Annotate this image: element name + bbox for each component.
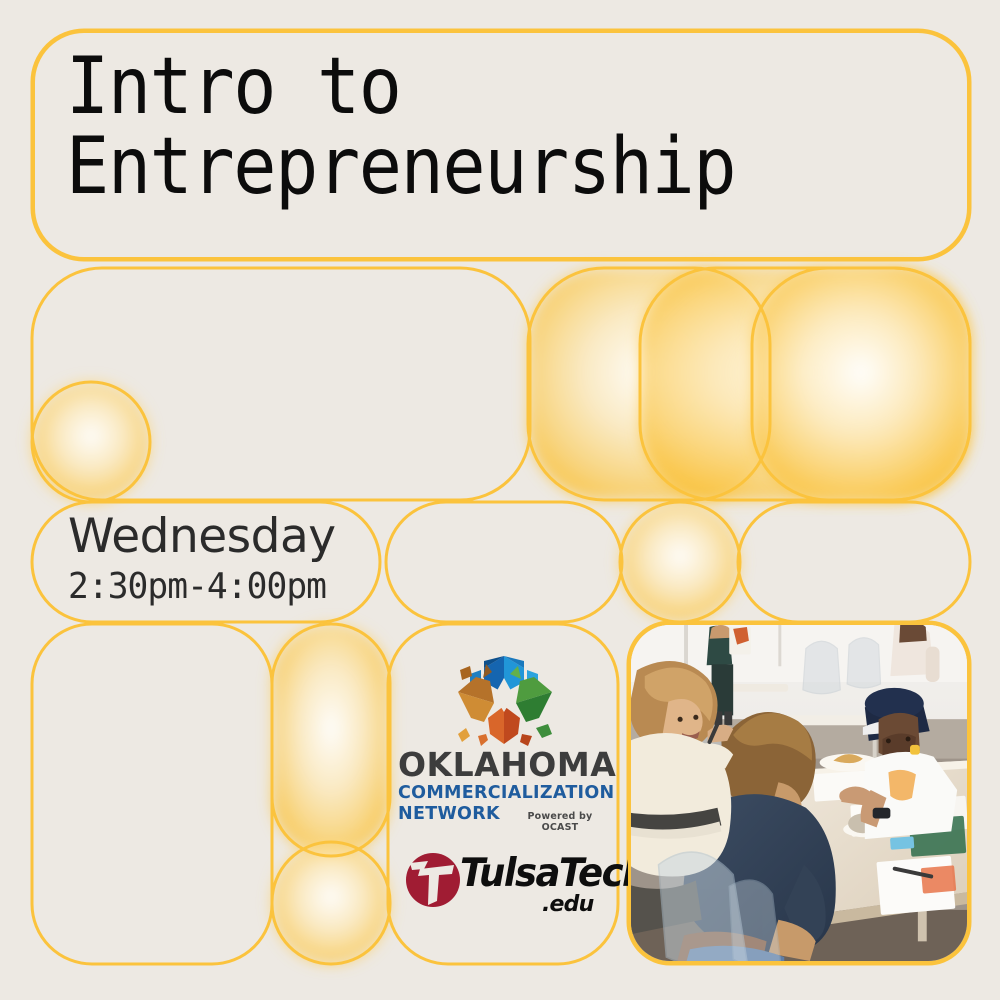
ocn-line3-row: NETWORK Powered by OCAST bbox=[398, 804, 610, 833]
page-title: Intro to Entrepreneurship bbox=[66, 48, 876, 207]
tulsatech-domain: .edu bbox=[542, 892, 594, 917]
event-photo bbox=[628, 622, 970, 964]
schedule-block: Wednesday 2:30pm-4:00pm bbox=[68, 512, 398, 609]
glow-bottom-pill-top bbox=[272, 624, 390, 856]
schedule-day: Wednesday bbox=[68, 512, 398, 562]
stroke-row3-b bbox=[386, 502, 622, 622]
ocn-wordmark: OKLAHOMA COMMERCIALIZATION NETWORK Power… bbox=[398, 748, 610, 833]
tulsatech-logo: TulsaTech .edu bbox=[402, 845, 610, 927]
event-photo-illustration bbox=[631, 625, 967, 961]
glow-mid-right-c bbox=[752, 268, 970, 500]
ocn-tagline: Powered by OCAST bbox=[510, 811, 610, 833]
schedule-time: 2:30pm-4:00pm bbox=[68, 564, 385, 609]
stroke-bottom-left-big bbox=[32, 624, 272, 964]
stroke-row3-d bbox=[738, 502, 970, 622]
ocn-line2: COMMERCIALIZATION bbox=[398, 784, 610, 803]
poster-canvas: Intro to Entrepreneurship Wednesday 2:30… bbox=[0, 0, 1000, 1000]
oklahoma-commercialization-network-logo: OKLAHOMA COMMERCIALIZATION NETWORK Power… bbox=[398, 648, 610, 813]
ocn-name: OKLAHOMA bbox=[398, 748, 610, 783]
tulsatech-name: TulsaTech bbox=[460, 851, 647, 896]
ocn-line3: NETWORK bbox=[398, 804, 500, 824]
ocn-pinwheel-star-icon bbox=[448, 648, 560, 748]
tulsatech-t-mark-icon bbox=[402, 847, 464, 909]
